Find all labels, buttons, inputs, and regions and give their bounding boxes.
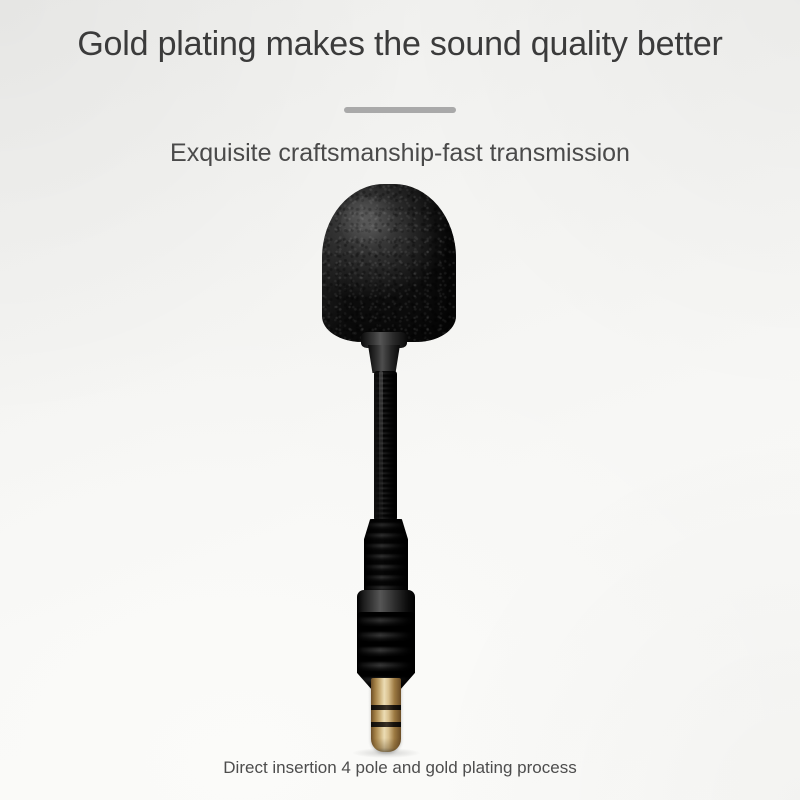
gold-plug	[371, 678, 401, 752]
grip-rings	[357, 612, 415, 690]
connector-barrel	[357, 590, 415, 624]
product-caption: Direct insertion 4 pole and gold plating…	[0, 756, 800, 780]
product-illustration	[0, 0, 800, 800]
gold-plug-insulator-ring-1	[371, 705, 401, 710]
page-title: Gold plating makes the sound quality bet…	[0, 22, 800, 66]
gold-plug-tip	[371, 738, 401, 752]
product-marketing-image: Gold plating makes the sound quality bet…	[0, 0, 800, 800]
capsule-collar-taper	[368, 345, 400, 373]
gold-plug-insulator-ring-2	[371, 722, 401, 727]
gooseneck	[374, 371, 397, 521]
title-divider	[344, 107, 456, 113]
foam-texture	[322, 184, 456, 342]
gooseneck-highlight	[379, 371, 383, 521]
background-vignette	[0, 0, 800, 800]
foam-windscreen	[322, 184, 456, 342]
capsule-collar	[361, 332, 407, 348]
foam-highlight	[341, 197, 397, 251]
subtitle: Exquisite craftsmanship-fast transmissio…	[0, 136, 800, 170]
strain-relief	[364, 519, 408, 597]
